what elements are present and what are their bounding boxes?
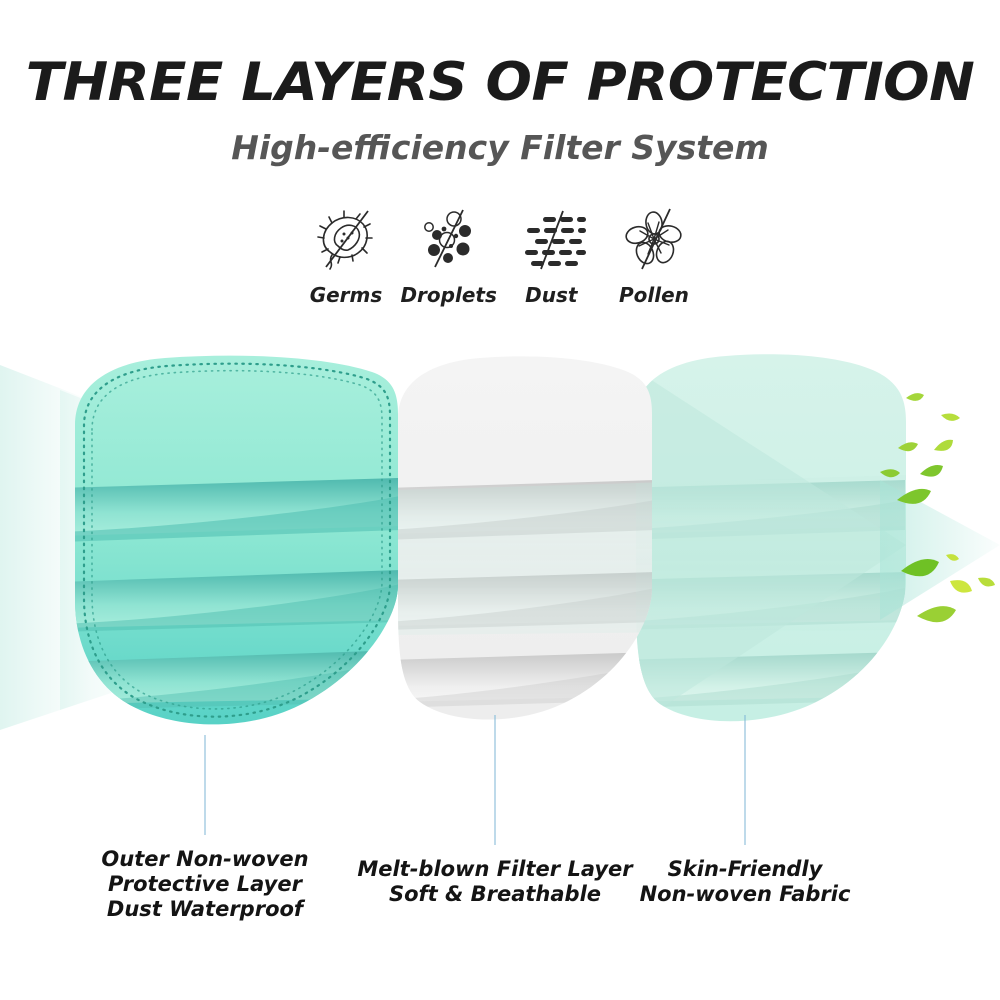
protection-item-germs: Germs <box>300 205 392 307</box>
slash-line <box>326 211 368 267</box>
protection-label-droplets: Droplets <box>400 283 496 307</box>
germ-blocked-icon <box>310 205 382 273</box>
protection-label-dust: Dust <box>525 283 577 307</box>
translucency-band <box>398 475 906 635</box>
pollen-blocked-icon <box>618 205 690 273</box>
page-title: THREE LAYERS OF PROTECTION <box>0 52 1000 113</box>
protection-item-pollen: Pollen <box>608 205 700 307</box>
callout-outer-layer: Outer Non-woven Protective Layer Dust Wa… <box>55 735 355 910</box>
protection-item-droplets: Droplets <box>403 205 495 307</box>
protection-item-dust: Dust <box>505 205 597 307</box>
leader-line-inner <box>745 715 746 845</box>
callout-text-outer: Outer Non-woven Protective Layer Dust Wa… <box>55 847 355 922</box>
leader-line-outer <box>205 735 206 835</box>
callout-text-inner: Skin-Friendly Non-woven Fabric <box>595 857 895 907</box>
callout-inner-layer: Skin-Friendly Non-woven Fabric <box>595 715 895 890</box>
three-layer-mask-illustration <box>0 330 1000 760</box>
page-subtitle: High-efficiency Filter System <box>0 128 1000 167</box>
droplets-blocked-icon <box>413 205 485 273</box>
infographic-poster: THREE LAYERS OF PROTECTION High-efficien… <box>0 0 1000 1000</box>
protection-label-germs: Germs <box>310 283 383 307</box>
protection-icon-row: Germs <box>300 205 700 320</box>
protection-label-pollen: Pollen <box>619 283 689 307</box>
leader-line-filter <box>495 715 496 845</box>
mask-layer-outer <box>60 356 400 725</box>
dust-blocked-icon <box>515 205 587 273</box>
